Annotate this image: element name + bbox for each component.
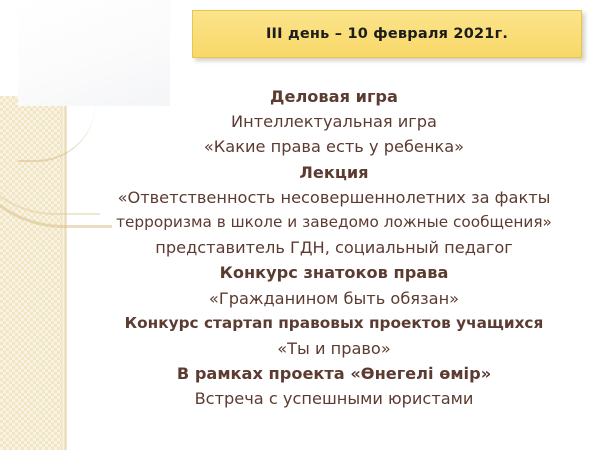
date-banner: III день – 10 февраля 2021г. — [192, 10, 582, 58]
body-line: Интеллектуальная игра — [68, 109, 600, 134]
body-line: Конкурс знатоков права — [68, 260, 600, 285]
presentation-slide: III день – 10 февраля 2021г. Деловая игр… — [0, 0, 600, 450]
body-line: Конкурс стартап правовых проектов учащих… — [68, 311, 600, 336]
body-line: «Гражданином быть обязан» — [68, 286, 600, 311]
body-line: Лекция — [68, 160, 600, 185]
body-line: «Какие права есть у ребенка» — [68, 134, 600, 159]
body-line: Деловая игра — [68, 84, 600, 109]
body-line: «Ты и право» — [68, 336, 600, 361]
date-banner-label: III день – 10 февраля 2021г. — [266, 26, 508, 42]
body-line: представитель ГДН, социальный педагог — [68, 235, 600, 260]
body-line: терроризма в школе и заведомо ложные соо… — [68, 210, 600, 235]
body-line: В рамках проекта «Өнегелі өмір» — [68, 361, 600, 386]
body-line: Встреча с успешными юристами — [68, 386, 600, 411]
body-line: «Ответственность несовершеннолетних за ф… — [68, 185, 600, 210]
slide-body-text: Деловая игра Интеллектуальная игра «Каки… — [68, 84, 600, 412]
